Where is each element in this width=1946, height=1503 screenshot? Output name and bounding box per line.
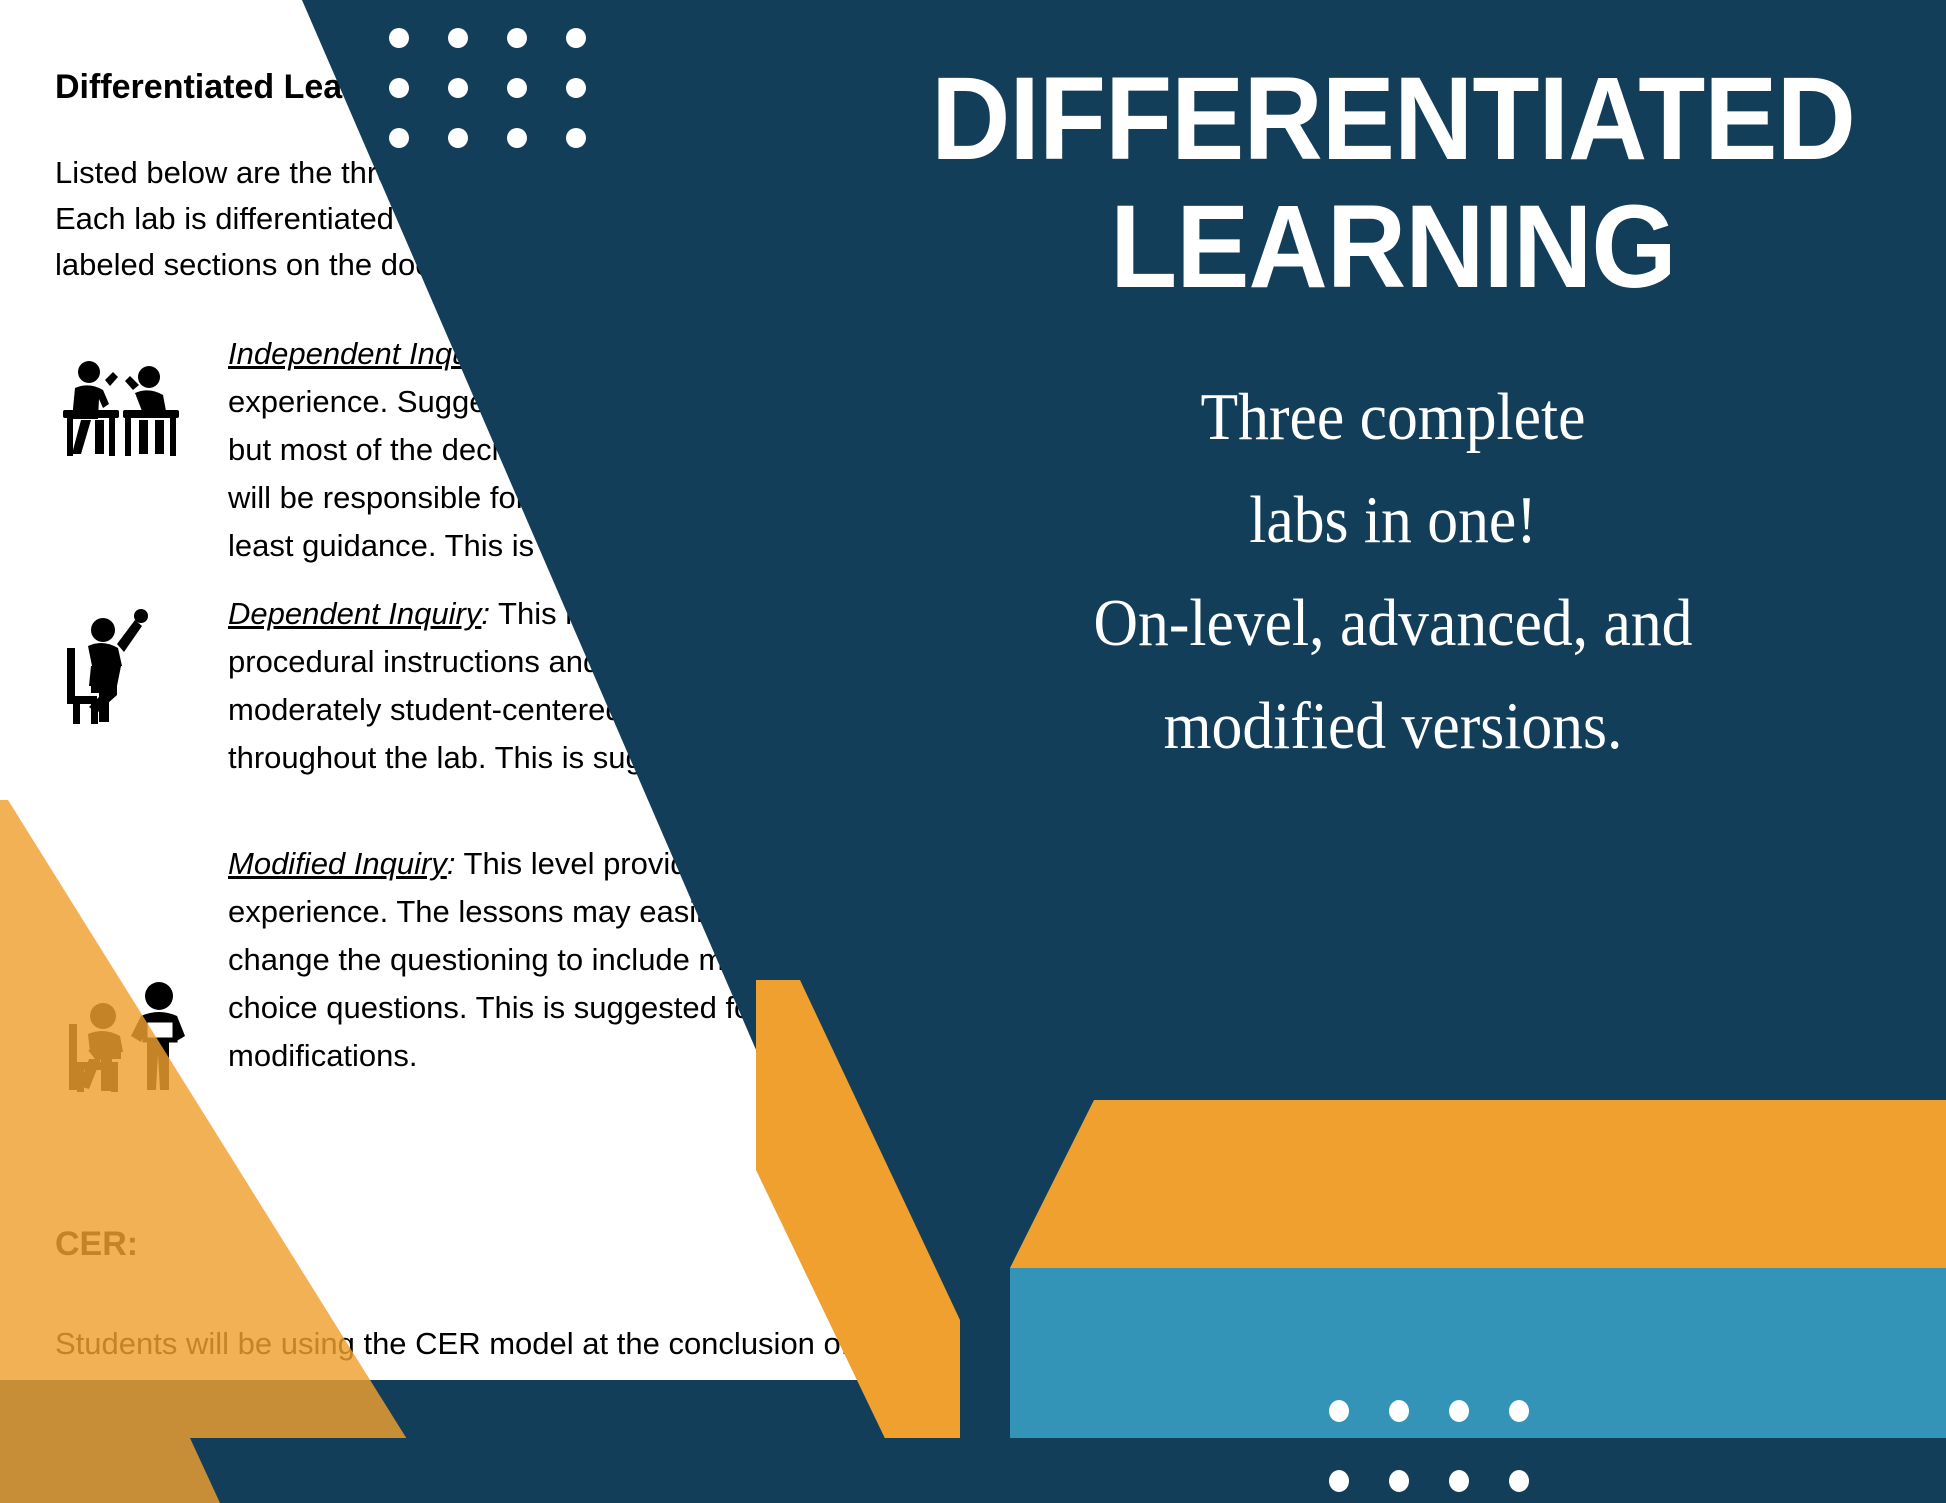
- bottom-navy-strip: [0, 1438, 1946, 1503]
- dot: [448, 128, 468, 148]
- hero-title-line2: LEARNING: [879, 188, 1908, 306]
- hero-subtitle: Three complete labs in one! On-level, ad…: [884, 366, 1902, 778]
- section-lead: Modified Inquiry: [228, 846, 447, 881]
- two-students-at-desks-icon: [55, 350, 185, 480]
- dot: [389, 28, 409, 48]
- dot: [448, 78, 468, 98]
- dot: [1509, 1470, 1529, 1492]
- dot: [566, 28, 586, 48]
- dot: [1329, 1470, 1349, 1492]
- dot: [566, 78, 586, 98]
- section-lead-punct: :: [481, 596, 490, 631]
- hero-subtitle-line: modified versions.: [884, 675, 1902, 778]
- hero-text-block: DIFFERENTIATED LEARNING Three complete l…: [840, 60, 1946, 778]
- dot-grid-bottom-right: [1329, 1400, 1569, 1503]
- dot: [507, 28, 527, 48]
- dot: [1449, 1400, 1469, 1422]
- dot: [389, 128, 409, 148]
- dot: [1509, 1400, 1529, 1422]
- section-lead: Dependent Inquiry: [228, 596, 481, 631]
- hero-title-line1: DIFFERENTIATED: [931, 53, 1855, 185]
- dot: [1389, 1470, 1409, 1492]
- dot: [1449, 1470, 1469, 1492]
- dot: [448, 28, 468, 48]
- slide-canvas: Differentiated Learning: Listed below ar…: [0, 0, 1946, 1503]
- orange-accent-bar: [1010, 1100, 1946, 1268]
- dot: [566, 128, 586, 148]
- student-raising-hand-icon: [55, 600, 185, 730]
- hero-subtitle-line: Three complete: [884, 366, 1902, 469]
- hero-title: DIFFERENTIATED LEARNING: [879, 60, 1908, 306]
- hero-subtitle-line: On-level, advanced, and: [884, 572, 1902, 675]
- dot: [1329, 1400, 1349, 1422]
- dot: [389, 78, 409, 98]
- dot-grid-top: [389, 28, 625, 178]
- dot: [507, 128, 527, 148]
- dot: [1389, 1400, 1409, 1422]
- hero-subtitle-line: labs in one!: [884, 469, 1902, 572]
- dot: [507, 78, 527, 98]
